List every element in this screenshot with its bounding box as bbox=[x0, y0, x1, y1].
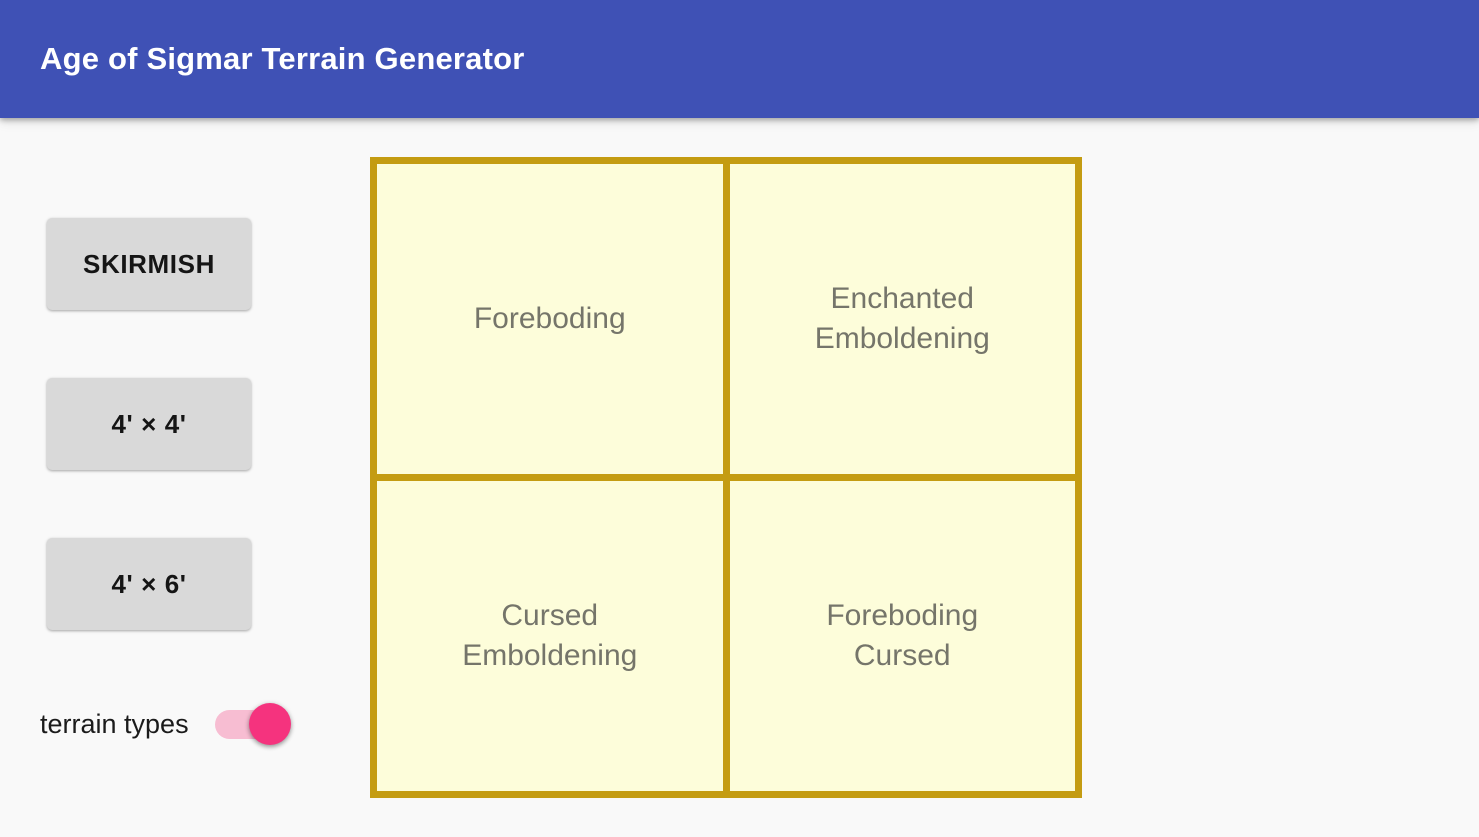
terrain-types-label: terrain types bbox=[40, 696, 189, 752]
switch-thumb-icon bbox=[249, 703, 291, 745]
terrain-types-switch[interactable] bbox=[215, 700, 291, 748]
terrain-types-toggle-row: terrain types bbox=[40, 696, 291, 752]
app-title: Age of Sigmar Terrain Generator bbox=[40, 41, 525, 77]
skirmish-button[interactable]: SKIRMISH bbox=[47, 218, 251, 310]
terrain-cell-top-right[interactable]: Enchanted Emboldening bbox=[730, 164, 1076, 474]
content-area: SKIRMISH 4' × 4' 4' × 6' terrain types F… bbox=[0, 118, 1479, 837]
board-4x4-button[interactable]: 4' × 4' bbox=[47, 378, 251, 470]
terrain-cell-bottom-left[interactable]: Cursed Emboldening bbox=[377, 481, 723, 791]
app-bar: Age of Sigmar Terrain Generator bbox=[0, 0, 1479, 118]
board-4x6-button[interactable]: 4' × 6' bbox=[47, 538, 251, 630]
controls-panel: SKIRMISH 4' × 4' 4' × 6' terrain types bbox=[0, 118, 360, 837]
terrain-board-grid: Foreboding Enchanted Emboldening Cursed … bbox=[370, 157, 1082, 798]
terrain-cell-bottom-right[interactable]: Foreboding Cursed bbox=[730, 481, 1076, 791]
terrain-cell-top-left[interactable]: Foreboding bbox=[377, 164, 723, 474]
